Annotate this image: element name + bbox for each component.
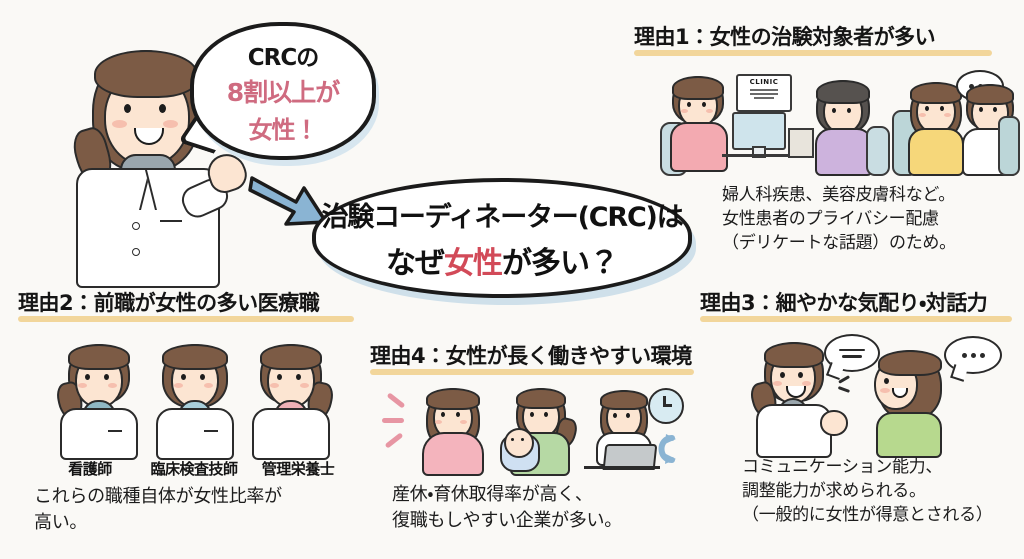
reason-3-body: コミュニケーション能力、 調整能力が求められる。 （一般的に女性が得意とされる） [742,455,1024,527]
reason-2-block: 理由2：前職が女性の多い医療職 [18,292,368,325]
bubble-line [842,355,862,358]
title-line-2: なぜ女性が多い？ [386,238,618,282]
gesturing-hand [820,410,848,436]
computer-monitor [732,112,786,150]
speech-bubble: CRCの 8割以上が 女性！ [190,22,376,160]
emphasis-ticks [838,378,852,402]
books-on-desk [788,128,814,158]
clinic-sign-label: CLINIC [738,78,790,86]
reason-2-illustration [44,340,344,458]
reason-4-heading: 理由4：女性が長く働きやすい環境 [370,345,706,378]
reason-2-underline [18,316,354,322]
coat-pocket [160,220,182,222]
title-line-2-before: なぜ [386,246,444,281]
speech-line-3: 女性！ [249,110,318,145]
reason-4-underline [370,369,694,375]
speech-line-1: CRCの [248,38,318,72]
return-arrow-icon [650,432,680,470]
figure-woman-at-laptop [590,390,654,472]
infographic-canvas: CRCの 8割以上が 女性！ 治験コーディネーター(CRC)は なぜ女性が多い？… [0,0,1024,559]
eye-right [159,104,166,113]
figure-nurse [54,344,140,456]
desk-line [584,466,660,469]
bubble-line [839,349,865,352]
bubble-dot [971,353,976,358]
reason-2-captions: 看護師 臨床検査技師 管理栄養士 [44,458,344,479]
fringe-shape [94,50,198,98]
title-line-2-highlight: 女性 [444,246,502,281]
title-line-2-after: が多い？ [502,246,618,281]
bubble-dot [980,353,985,358]
reason-4-heading-text: 理由4：女性が長く働きやすい環境 [370,344,692,368]
figure-patient-yellow [906,82,964,172]
reason-4-illustration [382,388,682,472]
clock-icon [648,388,684,424]
reason-3-underline [700,316,1012,322]
bubble-dot [962,353,967,358]
dots-bubble-tail [950,364,968,382]
figure-mother-with-baby [500,388,574,472]
figure-crc-white-coat [750,342,842,454]
reason-4-body: 産休・育休取得率が高く、 復職もしやすい企業が多い。 [392,482,692,533]
figure-pregnant-woman [418,388,484,472]
reason-3-block: 理由3：細やかな気配り・対話力 [700,292,1024,325]
caption-dietitian: 管理栄養士 [252,458,344,479]
clinic-sign: CLINIC [736,74,792,112]
main-title-bubble: 治験コーディネーター(CRC)は なぜ女性が多い？ [312,178,692,298]
figure-patient-pink [668,76,728,172]
reason-2-body: これらの職種自体が女性比率が 高い。 [34,484,364,535]
reason-1-body: 婦人科疾患、美容皮膚科など。 女性患者のプライバシー配慮 （デリケートな話題）の… [722,183,1022,255]
reason-1-heading-text: 理由1：女性の治験対象者が多い [634,25,935,49]
cheek-left [112,120,127,128]
reason-2-heading: 理由2：前職が女性の多い医療職 [18,292,368,325]
reason-1-underline [634,50,992,56]
motion-lines-icon [382,396,410,450]
reason-2-heading-text: 理由2：前職が女性の多い医療職 [18,291,319,315]
caption-nurse: 看護師 [44,458,136,479]
figure-lab-technician [150,344,236,456]
chair-middle [866,126,890,176]
figure-dietitian [246,344,332,456]
title-line-1: 治験コーディネーター(CRC)は [321,195,682,234]
eye-left [124,104,131,113]
cheek-right [163,120,178,128]
reason-3-heading-text: 理由3：細やかな気配り・対話力 [700,291,987,315]
reason-3-illustration [740,332,1024,454]
coat-button-upper [132,222,140,230]
caption-lab-technician: 臨床検査技師 [139,458,249,479]
speech-line-2: 8割以上が [227,73,339,109]
chair-consult-right [998,116,1020,176]
coat-button-lower [132,248,140,256]
figure-patient-purple [812,80,874,172]
reason-1-block: 理由1：女性の治験対象者が多い [634,26,1014,59]
reason-1-heading: 理由1：女性の治験対象者が多い [634,26,1014,59]
reason-1-illustration: CLINIC [660,66,1016,178]
reason-3-heading: 理由3：細やかな気配り・対話力 [700,292,1024,325]
reason-4-block: 理由4：女性が長く働きやすい環境 [370,345,706,378]
figure-patient-green [870,350,946,454]
